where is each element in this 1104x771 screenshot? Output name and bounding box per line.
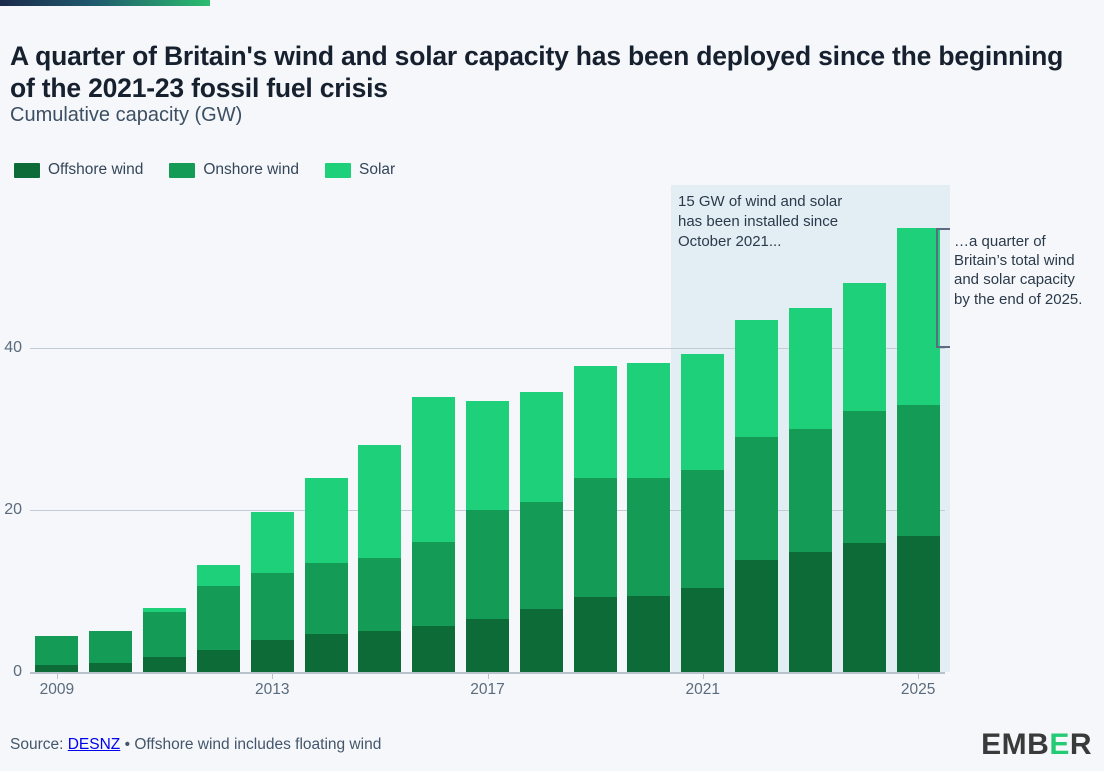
bar-segment-solar <box>197 565 240 586</box>
bar-2018[interactable] <box>520 392 563 672</box>
bar-segment-solar <box>843 283 886 411</box>
range-bracket-icon <box>936 228 950 348</box>
x-axis-tick-label: 2009 <box>40 681 74 699</box>
x-axis-tick-mark <box>703 672 704 679</box>
bar-segment-offshore-wind <box>305 634 348 672</box>
bar-segment-offshore-wind <box>466 619 509 672</box>
source-note: Source: DESNZ • Offshore wind includes f… <box>10 736 381 754</box>
bar-segment-onshore-wind <box>735 437 778 560</box>
bar-segment-onshore-wind <box>681 470 724 588</box>
chart-plot-area: 02040 20092013201720212025 15 GW of wind… <box>0 0 1104 771</box>
bar-segment-solar <box>789 308 832 430</box>
ember-logo-part-r: R <box>1070 728 1092 762</box>
bar-2023[interactable] <box>789 308 832 673</box>
bar-segment-solar <box>412 397 455 543</box>
y-axis-tick-label: 0 <box>0 663 22 681</box>
bar-2020[interactable] <box>627 363 670 672</box>
annotation-quarter-of-total: …a quarter of Britain’s total wind and s… <box>954 232 1094 309</box>
bar-segment-solar <box>466 401 509 510</box>
x-axis-tick-mark <box>272 672 273 679</box>
bar-segment-onshore-wind <box>197 586 240 650</box>
x-axis-tick-mark <box>488 672 489 679</box>
x-axis-tick-mark <box>57 672 58 679</box>
bar-segment-solar <box>627 363 670 478</box>
bar-segment-solar <box>574 366 617 478</box>
bar-segment-offshore-wind <box>412 626 455 672</box>
bar-segment-onshore-wind <box>627 478 670 596</box>
bar-segment-offshore-wind <box>251 640 294 672</box>
y-axis-tick-label: 40 <box>0 339 22 357</box>
bar-segment-solar <box>251 512 294 573</box>
bar-2015[interactable] <box>358 445 401 672</box>
bar-segment-offshore-wind <box>843 543 886 672</box>
bar-2009[interactable] <box>35 636 78 672</box>
bar-segment-offshore-wind <box>681 588 724 672</box>
bar-segment-offshore-wind <box>789 552 832 672</box>
bar-segment-onshore-wind <box>412 542 455 625</box>
bar-segment-onshore-wind <box>520 502 563 609</box>
bar-2011[interactable] <box>143 608 186 672</box>
bar-segment-onshore-wind <box>143 612 186 657</box>
bar-2021[interactable] <box>681 354 724 672</box>
bar-segment-onshore-wind <box>35 636 78 664</box>
bar-segment-offshore-wind <box>89 663 132 672</box>
bar-segment-offshore-wind <box>627 596 670 672</box>
bar-2013[interactable] <box>251 512 294 672</box>
bar-2016[interactable] <box>412 397 455 672</box>
bar-segment-onshore-wind <box>897 405 940 536</box>
bar-2019[interactable] <box>574 366 617 672</box>
ember-logo: EMBER <box>981 728 1092 762</box>
bar-2010[interactable] <box>89 631 132 672</box>
source-link-desnz[interactable]: DESNZ <box>68 736 121 753</box>
bar-segment-onshore-wind <box>89 631 132 663</box>
ember-logo-part-e: E <box>1049 728 1070 762</box>
bar-segment-onshore-wind <box>843 411 886 543</box>
bar-2012[interactable] <box>197 565 240 672</box>
x-axis-tick-label: 2021 <box>686 681 720 699</box>
bar-2022[interactable] <box>735 320 778 672</box>
x-axis-tick-label: 2017 <box>470 681 504 699</box>
y-axis-tick-label: 20 <box>0 501 22 519</box>
bar-segment-offshore-wind <box>197 650 240 672</box>
bar-segment-onshore-wind <box>305 563 348 633</box>
x-axis-tick-label: 2025 <box>901 681 935 699</box>
bar-segment-onshore-wind <box>574 478 617 598</box>
bar-segment-offshore-wind <box>358 631 401 672</box>
bar-segment-onshore-wind <box>789 429 832 552</box>
bar-segment-solar <box>681 354 724 469</box>
bar-segment-solar <box>520 392 563 502</box>
annotation-installed-since-2021: 15 GW of wind and solar has been install… <box>678 192 858 251</box>
bar-segment-offshore-wind <box>520 609 563 672</box>
ember-logo-part-a: EMB <box>981 728 1049 762</box>
bar-segment-solar <box>143 608 186 612</box>
bar-segment-solar <box>358 445 401 558</box>
bar-segment-offshore-wind <box>897 536 940 672</box>
bar-segment-offshore-wind <box>35 665 78 672</box>
x-axis-tick-mark <box>918 672 919 679</box>
bar-2017[interactable] <box>466 401 509 672</box>
source-prefix: Source: <box>10 736 68 753</box>
bar-segment-onshore-wind <box>466 510 509 619</box>
bar-segment-onshore-wind <box>358 558 401 631</box>
source-suffix: • Offshore wind includes floating wind <box>120 736 381 753</box>
bar-2024[interactable] <box>843 283 886 672</box>
bar-segment-offshore-wind <box>143 657 186 672</box>
bar-segment-offshore-wind <box>574 597 617 672</box>
bar-segment-onshore-wind <box>251 573 294 640</box>
bar-segment-solar <box>735 320 778 437</box>
bar-segment-solar <box>305 478 348 564</box>
bar-segment-offshore-wind <box>735 560 778 672</box>
bar-2014[interactable] <box>305 478 348 672</box>
bar-2025[interactable] <box>897 228 940 672</box>
x-axis-tick-label: 2013 <box>255 681 289 699</box>
bar-segment-solar <box>897 228 940 405</box>
